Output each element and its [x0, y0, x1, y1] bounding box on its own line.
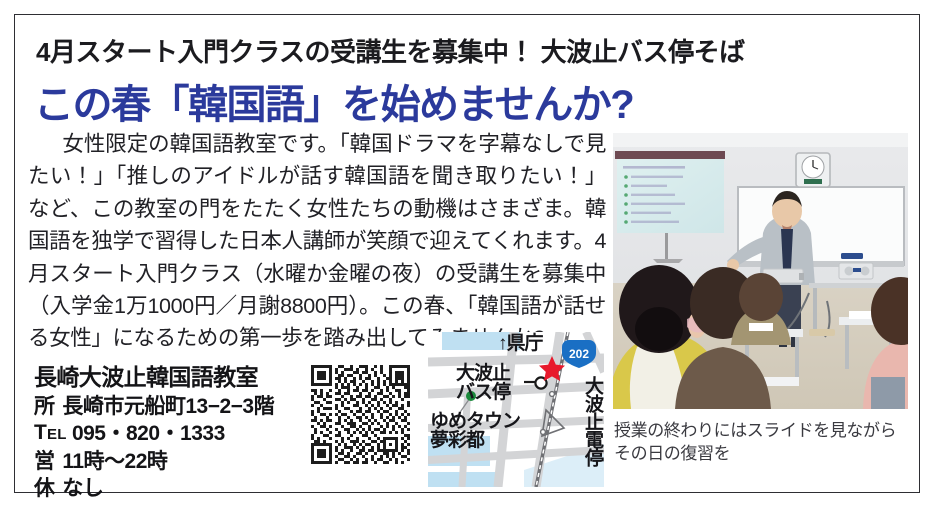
bus-stop-line1: 大波止	[456, 364, 510, 383]
hours-label: 営	[34, 449, 62, 476]
contact-row-address: 所長崎市元船町13−2−3階	[34, 394, 319, 421]
photo-caption: 授業の終わりにはスライドを見ながら その日の復習を	[614, 419, 914, 465]
map-label-yumetown: ゆめタウン 夢彩都	[430, 412, 520, 451]
school-name: 長崎大波止韓国語教室	[34, 362, 319, 392]
location-map[interactable]: 202 ↑県庁 大波止 バス停 ゆめタウン 夢彩都 大波止電停	[428, 332, 604, 487]
svg-text:202: 202	[569, 347, 589, 361]
advertisement-root: 4月スタート入門クラスの受講生を募集中！ 大波止バス停そば この春「韓国語」を始…	[0, 0, 936, 511]
tel-label: TEL	[34, 420, 67, 449]
contact-row-holiday: 休なし	[34, 476, 319, 503]
body-copy: 女性限定の韓国語教室です。「韓国ドラマを字幕なしで見たい！」「推しのアイドルが話…	[28, 128, 606, 355]
holiday-label: 休	[34, 476, 62, 503]
address-value: 長崎市元船町13−2−3階	[62, 395, 274, 418]
hours-value: 11時〜22時	[62, 450, 167, 473]
caption-line-1: 授業の終わりにはスライドを見ながら	[614, 419, 914, 442]
holiday-value: なし	[62, 477, 103, 500]
map-label-bus-stop: 大波止 バス停	[456, 364, 510, 403]
address-label: 所	[34, 394, 62, 421]
contact-block: 長崎大波止韓国語教室 所長崎市元船町13−2−3階 TEL 095・820・13…	[34, 362, 319, 502]
kicker-headline: 4月スタート入門クラスの受講生を募集中！ 大波止バス停そば	[36, 32, 776, 69]
yumetown-line2: 夢彩都	[430, 431, 520, 450]
map-label-tram-stop: 大波止電停	[583, 376, 602, 466]
contact-row-hours: 営11時〜22時	[34, 449, 319, 476]
bus-stop-line2: バス停	[456, 383, 510, 402]
qr-code[interactable]	[311, 365, 410, 464]
contact-row-tel: TEL 095・820・1333	[34, 421, 319, 450]
body-paragraph: 女性限定の韓国語教室です。「韓国ドラマを字幕なしで見たい！」「推しのアイドルが話…	[28, 128, 606, 355]
yumetown-line1: ゆめタウン	[430, 412, 520, 431]
map-label-kencho: ↑県庁	[498, 334, 543, 353]
tel-value[interactable]: 095・820・1333	[72, 422, 225, 445]
main-headline: この春「韓国語」を始めませんか?	[34, 72, 794, 130]
classroom-photo	[613, 133, 908, 409]
caption-line-2: その日の復習を	[614, 442, 914, 465]
